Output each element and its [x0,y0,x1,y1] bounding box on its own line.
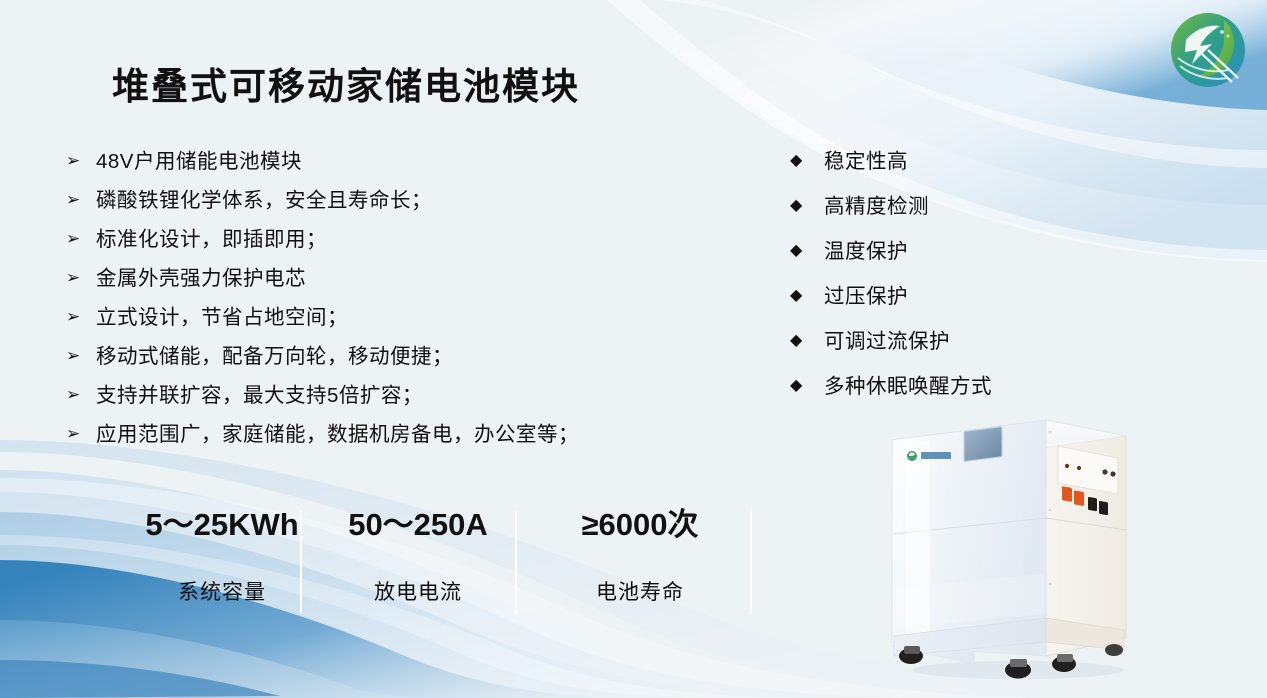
list-item: ◆ 稳定性高 [790,150,1090,174]
list-item: ◆ 可调过流保护 [790,330,1090,354]
list-item: ➢ 移动式储能，配备万向轮，移动便捷； [66,345,706,369]
company-logo-icon [1166,8,1250,92]
arrow-bullet-icon: ➢ [66,228,96,251]
list-item: ◆ 高精度检测 [790,195,1090,219]
spec-divider [750,510,752,614]
diamond-bullet-icon: ◆ [790,195,824,217]
slide-title: 堆叠式可移动家储电池模块 [112,56,580,110]
arrow-bullet-icon: ➢ [66,384,96,407]
features-left-list: ➢ 48V户用储能电池模块 ➢ 磷酸铁锂化学体系，安全且寿命长； ➢ 标准化设计… [66,150,706,463]
list-item-label: 高精度检测 [824,195,1090,219]
spec-highlight-band: 5～25KWh 系统容量 50～250A 放电电流 ≥6000次 电池寿命 [100,508,752,616]
list-item-label: 应用范围广，家庭储能，数据机房备电，办公室等； [96,423,706,447]
list-item: ➢ 应用范围广，家庭储能，数据机房备电，办公室等； [66,423,706,447]
list-item: ◆ 温度保护 [790,240,1090,264]
list-item-label: 48V户用储能电池模块 [96,150,706,174]
product-image-battery-cabinet [868,388,1168,688]
spec-item-lifetime: ≥6000次 电池寿命 [540,508,740,606]
list-item-label: 温度保护 [824,240,1090,264]
list-item-label: 金属外壳强力保护电芯 [96,267,706,291]
spec-label: 放电电流 [318,576,518,606]
spec-label: 电池寿命 [540,576,740,606]
list-item-label: 可调过流保护 [824,330,1090,354]
features-right-list: ◆ 稳定性高 ◆ 高精度检测 ◆ 温度保护 ◆ 过压保护 ◆ 可调过流保护 ◆ … [790,150,1090,420]
arrow-bullet-icon: ➢ [66,306,96,329]
list-item-label: 稳定性高 [824,150,1090,174]
list-item: ➢ 金属外壳强力保护电芯 [66,267,706,291]
list-item-label: 支持并联扩容，最大支持5倍扩容； [96,384,706,408]
list-item-label: 磷酸铁锂化学体系，安全且寿命长； [96,189,706,213]
list-item-label: 立式设计，节省占地空间； [96,306,706,330]
diamond-bullet-icon: ◆ [790,285,824,307]
list-item-label: 移动式储能，配备万向轮，移动便捷； [96,345,706,369]
list-item-label: 标准化设计，即插即用； [96,228,706,252]
list-item: ➢ 磷酸铁锂化学体系，安全且寿命长； [66,189,706,213]
arrow-bullet-icon: ➢ [66,189,96,212]
list-item: ◆ 过压保护 [790,285,1090,309]
spec-value: ≥6000次 [540,508,740,542]
diamond-bullet-icon: ◆ [790,150,824,172]
arrow-bullet-icon: ➢ [66,345,96,368]
arrow-bullet-icon: ➢ [66,423,96,446]
arrow-bullet-icon: ➢ [66,267,96,290]
spec-label: 系统容量 [122,576,322,606]
spec-value: 50～250A [318,508,518,542]
list-item-label: 过压保护 [824,285,1090,309]
spec-value: 5～25KWh [122,508,322,542]
list-item: ➢ 立式设计，节省占地空间； [66,306,706,330]
diamond-bullet-icon: ◆ [790,375,824,397]
list-item: ➢ 48V户用储能电池模块 [66,150,706,174]
diamond-bullet-icon: ◆ [790,240,824,262]
arrow-bullet-icon: ➢ [66,150,96,173]
list-item: ➢ 标准化设计，即插即用； [66,228,706,252]
slide-canvas: 堆叠式可移动家储电池模块 ➢ 48V户用储能电池模块 ➢ 磷酸铁锂化学体系，安全… [0,0,1267,698]
list-item: ➢ 支持并联扩容，最大支持5倍扩容； [66,384,706,408]
spec-item-capacity: 5～25KWh 系统容量 [122,508,322,606]
diamond-bullet-icon: ◆ [790,330,824,352]
spec-item-current: 50～250A 放电电流 [318,508,518,606]
